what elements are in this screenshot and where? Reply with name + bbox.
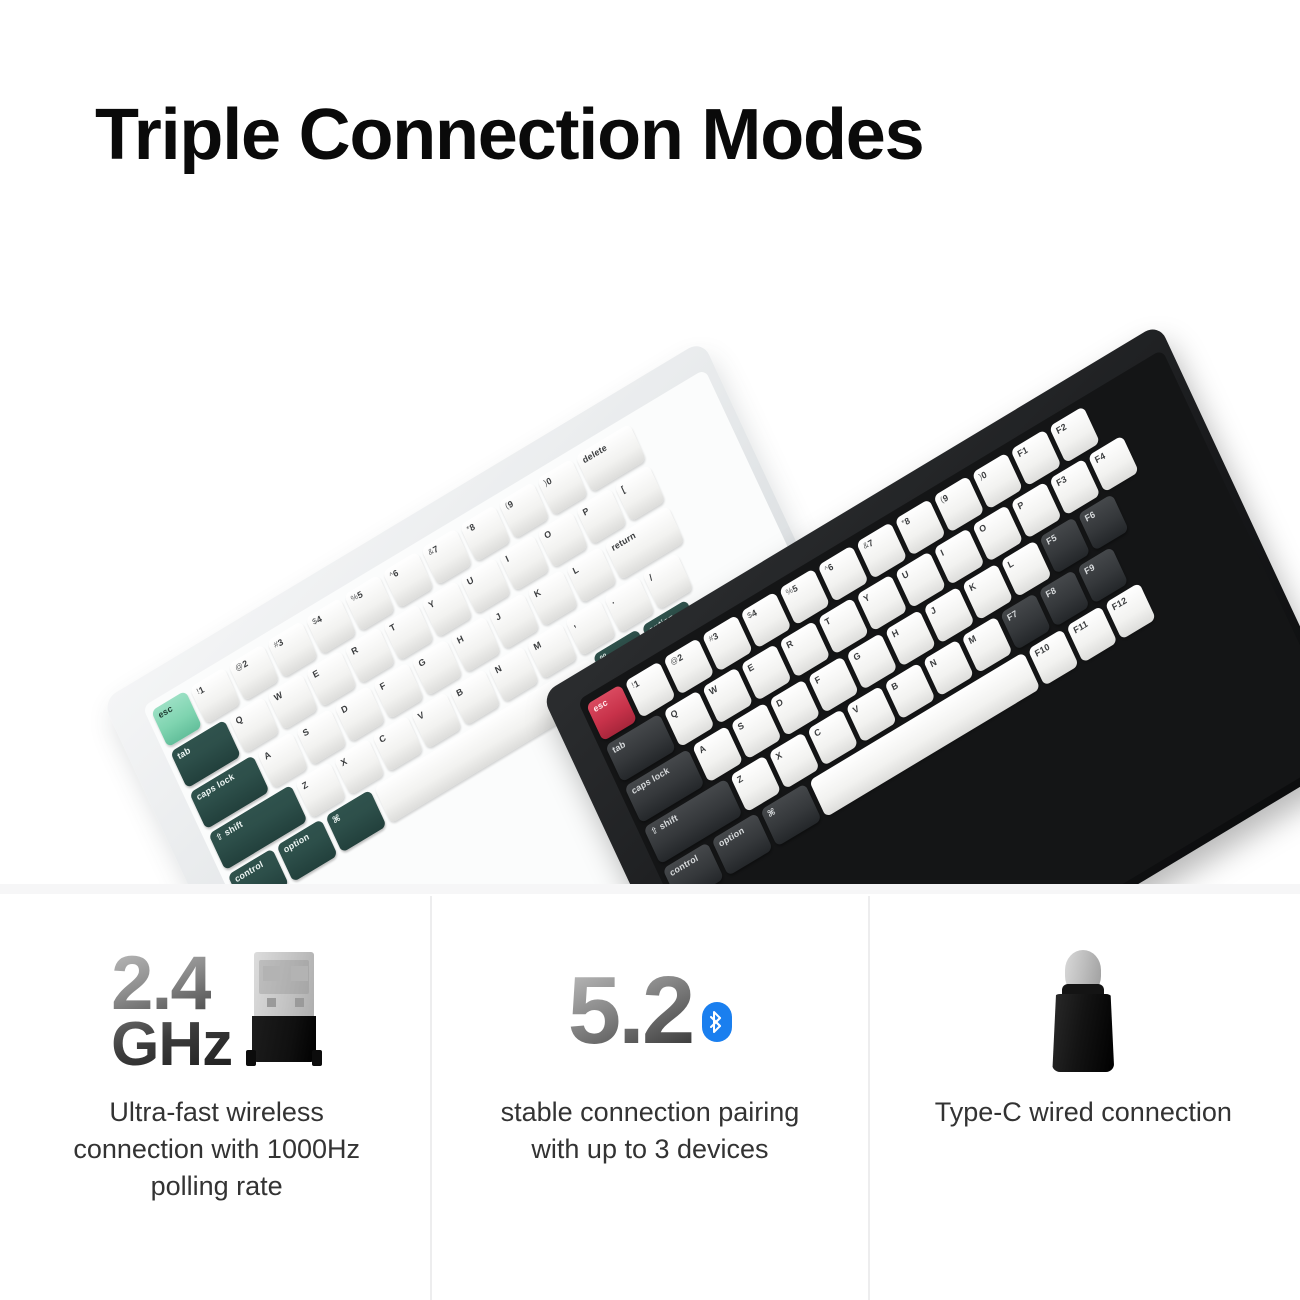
keycap-sublegend: ! — [631, 682, 637, 691]
usb-tab — [246, 1050, 256, 1066]
keycap-sublegend: ^ — [388, 571, 395, 581]
bluetooth-version: 5.2 — [568, 968, 692, 1054]
keycap-sublegend: ! — [196, 688, 202, 697]
keycap-sublegend: % — [785, 586, 795, 597]
keycap-sublegend: * — [901, 519, 907, 528]
keyboard-hero-image: esc!1@2#3$4%5^6&7*8(9)0deletetabQWERTYUI… — [0, 250, 1300, 884]
usb-tab — [312, 1050, 322, 1066]
keycap-sublegend: & — [427, 547, 435, 558]
ghz-value: 2.4 — [111, 951, 211, 1016]
keycap-sublegend: @ — [234, 661, 245, 673]
section-divider-horizontal — [0, 884, 1300, 894]
usb-pin — [291, 966, 308, 981]
feature-caption-typec: Type-C wired connection — [935, 1094, 1232, 1131]
keycap-sublegend: ( — [939, 496, 945, 505]
bluetooth-lockup: 5.2 — [568, 968, 732, 1054]
keycap-sublegend: $ — [311, 617, 319, 627]
keycap-sublegend: ) — [543, 479, 549, 488]
keycap-sublegend: % — [350, 592, 360, 603]
usb-type-c-icon — [1043, 946, 1123, 1076]
usb-contact — [295, 998, 304, 1007]
usb-pin — [263, 966, 280, 981]
keycap-sublegend: * — [466, 525, 472, 534]
keycap-sublegend: $ — [746, 611, 754, 621]
ghz-lockup: 2.4 GHz — [111, 951, 232, 1072]
usb-dongle-icon — [246, 946, 322, 1076]
keycap-sublegend: & — [862, 541, 870, 552]
feature-badge-24ghz: 2.4 GHz — [111, 946, 322, 1076]
keycap-sublegend: # — [708, 634, 716, 644]
feature-badge-bluetooth: 5.2 — [568, 946, 732, 1076]
keycap-sublegend: ( — [504, 502, 510, 511]
feature-caption-24ghz: Ultra-fast wireless connection with 1000… — [52, 1094, 382, 1205]
page-title: Triple Connection Modes — [95, 92, 923, 178]
keycap-sublegend: ^ — [823, 565, 830, 575]
ghz-unit: GHz — [111, 1018, 232, 1071]
type-c-shell — [1052, 994, 1114, 1072]
usb-body — [252, 1016, 316, 1062]
feature-caption-bluetooth: stable connection pairing with up to 3 d… — [485, 1094, 815, 1168]
keycap-sublegend: ) — [978, 473, 984, 482]
feature-column-typec: Type-C wired connection — [867, 894, 1300, 1300]
feature-column-bluetooth: 5.2 stable connection pairing with up to… — [433, 894, 866, 1300]
keycap-sublegend: @ — [669, 655, 680, 667]
feature-columns: 2.4 GHz Ultra-fast wireless connection w… — [0, 894, 1300, 1300]
feature-badge-typec — [1043, 946, 1123, 1076]
feature-column-24ghz: 2.4 GHz Ultra-fast wireless connection w… — [0, 894, 433, 1300]
bluetooth-icon — [702, 1002, 732, 1042]
usb-contact — [267, 998, 276, 1007]
keycap-sublegend: # — [273, 640, 281, 650]
